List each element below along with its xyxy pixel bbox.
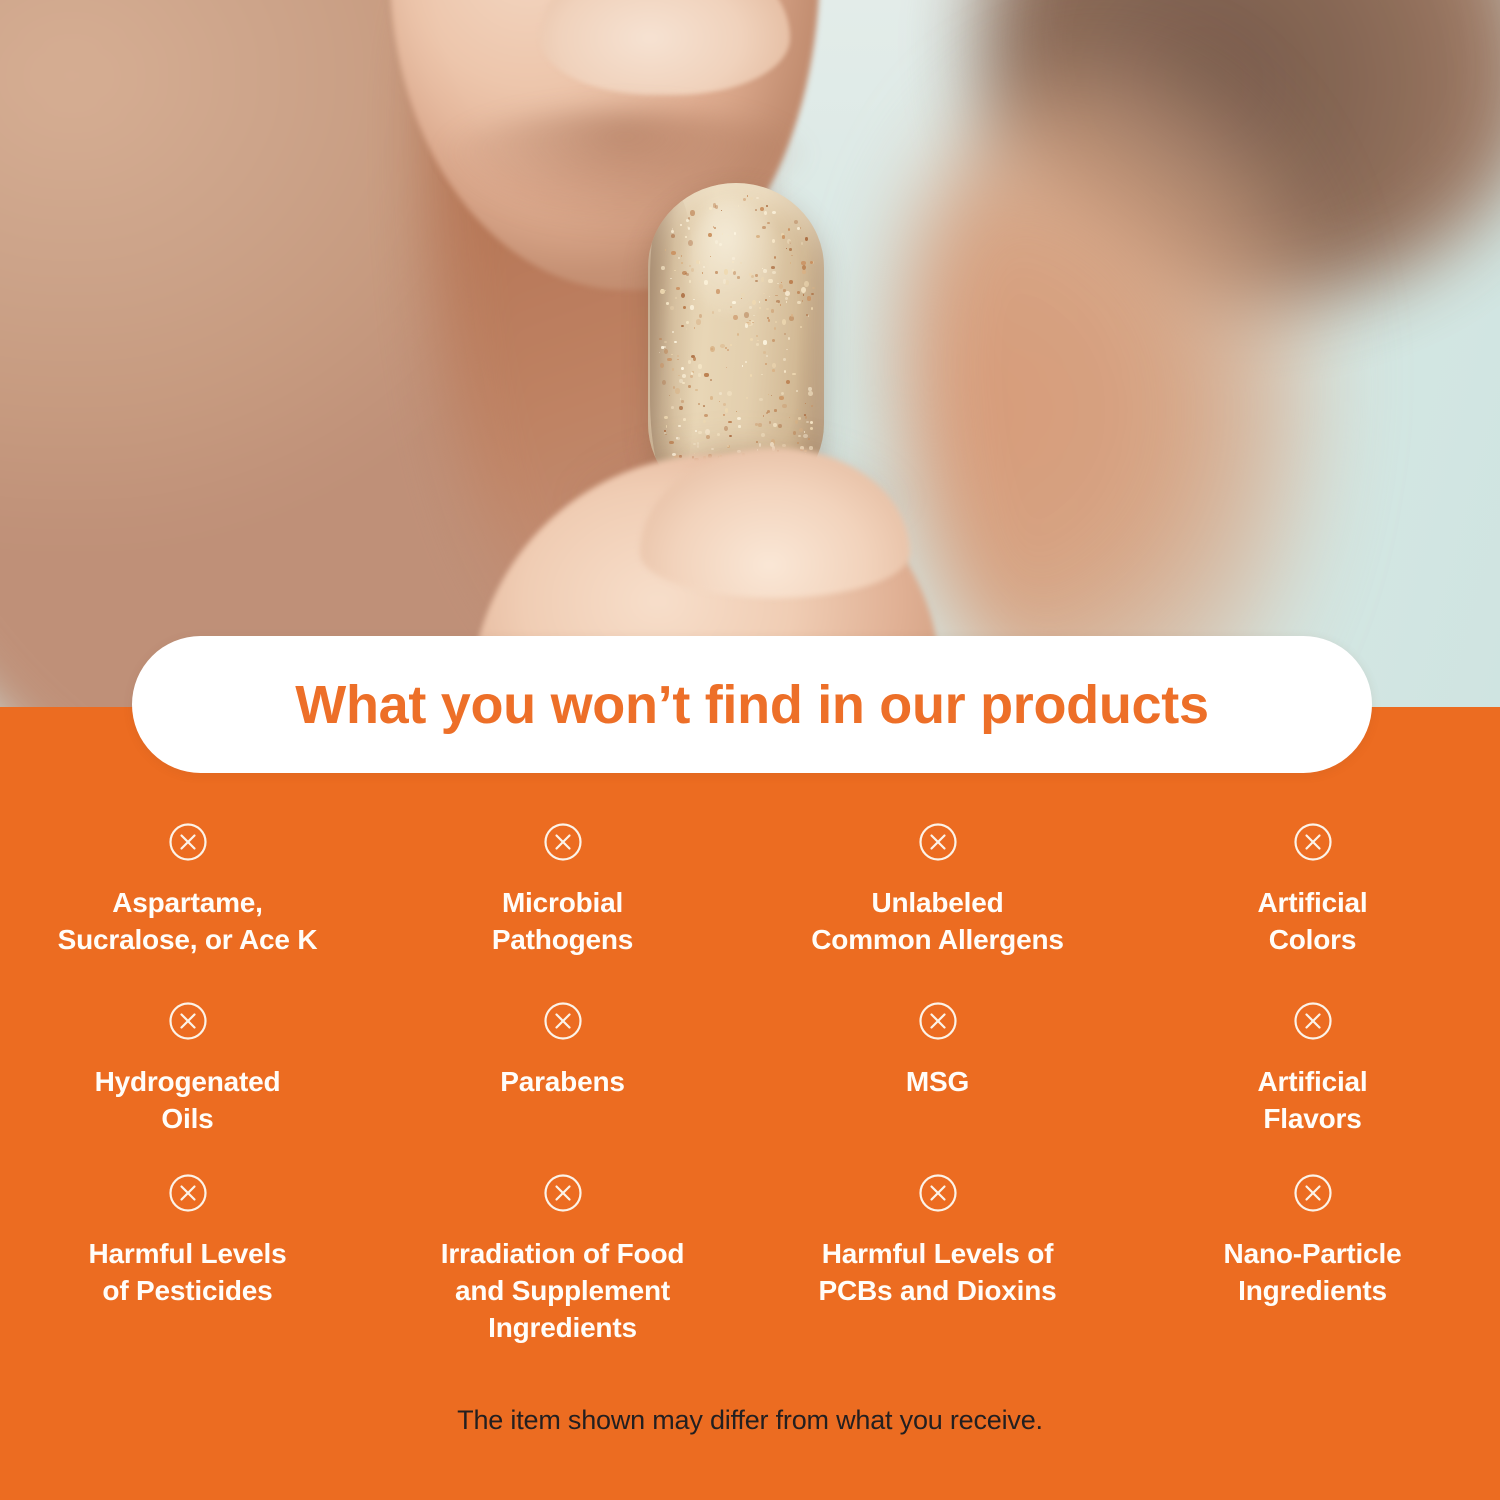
tablet-speckle xyxy=(804,281,809,287)
tablet-speckle xyxy=(767,410,770,413)
tablet-speckle xyxy=(688,240,692,246)
tablet-speckle xyxy=(810,427,813,430)
tablet-speckle xyxy=(732,261,734,263)
tablet-speckle xyxy=(790,262,792,264)
tablet-speckle xyxy=(807,296,812,300)
blurred-skin-right xyxy=(900,60,1320,710)
exclusions-grid: Aspartame, Sucralose, or Ace K Microbial… xyxy=(0,822,1500,1347)
tablet-speckle xyxy=(670,306,674,310)
tablet-speckle xyxy=(779,396,784,399)
tablet-speckle xyxy=(750,338,753,341)
tablet-speckle xyxy=(763,415,764,416)
exclusion-item: Harmful Levels of PCBs and Dioxins xyxy=(750,1173,1125,1347)
tablet-speckle xyxy=(688,227,690,229)
tablet-speckle xyxy=(786,349,787,350)
tablet-speckle xyxy=(704,414,708,417)
tablet-speckle xyxy=(761,374,763,375)
tablet-speckle xyxy=(805,237,808,241)
tablet-speckle xyxy=(710,346,715,352)
tablet-speckle xyxy=(797,291,800,294)
tablet-speckle xyxy=(759,307,761,309)
tablet-speckle xyxy=(798,417,801,419)
tablet-speckle xyxy=(784,333,786,336)
tablet-speckle xyxy=(681,262,683,264)
headline-emphasis: won’t xyxy=(551,675,690,735)
tablet-speckle xyxy=(737,276,740,278)
circle-x-icon xyxy=(543,822,583,862)
tablet-speckle xyxy=(740,262,742,264)
tablet-speckle xyxy=(663,346,666,348)
tablet-speckle xyxy=(681,293,685,298)
tablet-speckle xyxy=(698,373,701,376)
tablet-speckle xyxy=(686,219,688,222)
exclusion-item: Harmful Levels of Pesticides xyxy=(0,1173,375,1347)
exclusion-label: Artificial Flavors xyxy=(1257,1063,1367,1137)
exclusion-label: Unlabeled Common Allergens xyxy=(811,884,1063,958)
tablet-speckle xyxy=(789,280,793,284)
tablet-speckle xyxy=(719,392,722,395)
circle-x-icon xyxy=(543,1173,583,1213)
tablet-speckle xyxy=(727,349,729,351)
tablet-speckle xyxy=(766,205,768,207)
tablet-speckle xyxy=(703,405,705,407)
circle-x-icon xyxy=(1293,822,1333,862)
tablet-speckle xyxy=(664,349,668,354)
tablet-speckle xyxy=(737,333,739,336)
tablet-speckle xyxy=(704,280,708,284)
tablet-speckle xyxy=(722,233,723,234)
tablet-speckle xyxy=(736,411,737,412)
tablet-speckle xyxy=(775,321,777,323)
tablet-speckle xyxy=(719,243,722,246)
tablet-speckle xyxy=(703,420,706,423)
tablet-speckle xyxy=(772,211,776,214)
tablet-speckle xyxy=(715,271,718,275)
tablet-speckle xyxy=(776,302,777,304)
tablet-speckle xyxy=(763,351,767,354)
tablet-speckle xyxy=(771,266,775,269)
tablet-speckle xyxy=(693,299,694,300)
tablet-speckle xyxy=(720,344,725,348)
headline-part-1: What you xyxy=(295,675,550,735)
tablet-speckle xyxy=(768,279,772,284)
tablet-speckle xyxy=(682,382,685,385)
tablet-speckle xyxy=(708,233,712,238)
tablet-speckle xyxy=(797,409,799,411)
tablet-speckle xyxy=(766,308,769,310)
circle-x-icon xyxy=(168,1173,208,1213)
tablet-speckle xyxy=(784,370,786,373)
tablet-speckle xyxy=(741,298,742,299)
tablet-speckle xyxy=(745,361,747,363)
tablet-speckle xyxy=(769,421,771,424)
tablet-speckle xyxy=(693,357,696,361)
tablet-speckle xyxy=(781,392,784,395)
tablet-speckle xyxy=(794,220,798,224)
tablet-speckle xyxy=(695,389,697,392)
tablet-speckle xyxy=(800,326,802,328)
tablet-speckle xyxy=(763,293,764,294)
tablet-speckle xyxy=(811,293,814,295)
tablet-speckle xyxy=(801,242,804,245)
tablet-speckle xyxy=(696,319,701,324)
exclusion-item: MSG xyxy=(750,1001,1125,1173)
tablet-speckle xyxy=(771,309,774,313)
tablet-speckle xyxy=(661,289,662,290)
tablet-speckle xyxy=(803,294,804,296)
tablet-speckle xyxy=(694,327,696,329)
tablet-speckle xyxy=(750,197,753,201)
tablet-speckle xyxy=(782,404,786,408)
tablet-speckle xyxy=(690,305,694,309)
tablet-speckle xyxy=(772,271,776,274)
tablet-speckle xyxy=(742,365,743,367)
exclusion-item: Irradiation of Food and Supplement Ingre… xyxy=(375,1173,750,1347)
tablet-speckle xyxy=(680,224,682,225)
tablet-speckle xyxy=(683,418,686,421)
tablet-speckle xyxy=(771,395,772,397)
tablet-speckle xyxy=(661,266,664,270)
tablet-speckle xyxy=(808,391,812,396)
tablet-speckle xyxy=(718,309,721,312)
tablet-speckle xyxy=(738,425,740,428)
tablet-speckle xyxy=(746,397,748,399)
tablet-speckle xyxy=(796,390,798,392)
exclusion-item: Hydrogenated Oils xyxy=(0,1001,375,1173)
tablet-speckle xyxy=(675,297,677,299)
tablet-speckle xyxy=(734,232,737,234)
tablet-speckle xyxy=(805,403,806,404)
exclusion-label: Artificial Colors xyxy=(1257,884,1367,958)
tablet-speckle xyxy=(749,306,752,309)
tablet-speckle xyxy=(682,374,686,378)
circle-x-icon xyxy=(168,1001,208,1041)
tablet-speckle xyxy=(785,297,788,300)
product-photo xyxy=(0,0,1500,710)
exclusion-label: Parabens xyxy=(500,1063,624,1100)
tablet-speckle xyxy=(756,335,758,337)
tablet-speckle xyxy=(671,406,674,409)
tablet-speckle xyxy=(664,341,667,343)
circle-x-icon xyxy=(918,1173,958,1213)
tablet-speckle xyxy=(772,369,776,372)
tablet-speckle xyxy=(750,374,752,377)
tablet-speckle xyxy=(811,307,813,310)
tablet-speckle xyxy=(659,338,662,340)
tablet-speckle xyxy=(792,373,796,376)
exclusion-item: Microbial Pathogens xyxy=(375,822,750,1001)
tablet-speckle xyxy=(730,344,732,346)
tablet-speckle xyxy=(786,248,787,249)
tablet-speckle xyxy=(772,339,775,342)
tablet-speckle xyxy=(698,364,703,369)
tablet-speckle xyxy=(768,394,770,396)
exclusion-label: Irradiation of Food and Supplement Ingre… xyxy=(441,1235,685,1347)
headline-pill: What you won’t find in our products xyxy=(132,636,1372,773)
tablet-speckle xyxy=(795,420,798,424)
tablet-speckle xyxy=(797,301,801,304)
tablet-speckle xyxy=(759,398,763,401)
tablet-speckle xyxy=(737,417,741,420)
exclusion-label: Microbial Pathogens xyxy=(492,884,633,958)
tablet-speckle xyxy=(786,301,787,302)
tablet-speckle xyxy=(797,227,800,230)
exclusion-item: Unlabeled Common Allergens xyxy=(750,822,1125,1001)
tablet-speckle xyxy=(709,207,712,210)
tablet-speckle xyxy=(747,195,748,196)
tablet-speckle xyxy=(810,421,814,424)
exclusion-item: Parabens xyxy=(375,1001,750,1173)
tablet-speckle xyxy=(748,322,752,326)
tablet-speckle xyxy=(799,428,803,432)
tablet-speckle xyxy=(788,228,790,231)
circle-x-icon xyxy=(1293,1001,1333,1041)
tablet-speckle xyxy=(698,403,700,405)
exclusion-item: Artificial Flavors xyxy=(1125,1001,1500,1173)
tablet-speckle xyxy=(766,355,768,358)
tablet-speckle xyxy=(719,401,720,402)
exclusion-item: Artificial Colors xyxy=(1125,822,1500,1001)
tablet-speckle xyxy=(671,251,676,255)
tablet-speckle xyxy=(783,358,786,361)
tablet-speckle xyxy=(744,312,749,317)
tablet-speckle xyxy=(712,311,714,313)
tablet-speckle xyxy=(764,211,767,215)
tablet-speckle xyxy=(755,423,758,425)
tablet-speckle xyxy=(676,287,680,290)
exclusion-label: Nano-Particle Ingredients xyxy=(1224,1235,1402,1309)
tablet-speckle xyxy=(802,270,806,274)
product-infographic: What you won’t find in our products Aspa… xyxy=(0,0,1500,1500)
exclusion-label: Harmful Levels of Pesticides xyxy=(89,1235,287,1309)
tablet-speckle xyxy=(704,373,708,376)
tablet-speckle xyxy=(690,375,693,378)
tablet-speckle xyxy=(801,287,806,293)
headline-part-2: find in our products xyxy=(690,675,1209,735)
tablet-speckle xyxy=(763,269,767,272)
tablet-speckle xyxy=(806,314,808,316)
tablet-speckle xyxy=(808,387,812,391)
tablet-speckle xyxy=(782,319,786,325)
tablet-speckle xyxy=(786,380,790,384)
tablet-speckle xyxy=(681,367,684,370)
tablet-speckle xyxy=(757,340,759,341)
tablet-speckle xyxy=(732,269,734,272)
tablet-speckle xyxy=(688,385,691,389)
tablet-speckle xyxy=(755,280,757,282)
tablet-speckle xyxy=(679,406,683,410)
tablet-speckle xyxy=(758,423,761,427)
tablet-speckle xyxy=(671,230,674,233)
page-title: What you won’t find in our products xyxy=(295,678,1208,732)
tablet-speckle xyxy=(671,234,675,238)
tablet-speckle xyxy=(727,391,732,396)
tablet-speckle xyxy=(781,282,783,284)
tablet-speckle xyxy=(772,239,775,243)
tablet-speckle xyxy=(802,265,806,270)
tablet-speckle xyxy=(728,421,732,424)
tablet-speckle xyxy=(774,327,776,330)
tablet-speckle xyxy=(689,280,691,282)
tablet-speckle xyxy=(775,295,777,297)
tablet-speckle xyxy=(725,347,727,349)
tablet-speckle xyxy=(765,299,767,301)
tablet-speckle xyxy=(666,302,669,305)
tablet-speckle xyxy=(765,363,767,365)
tablet-speckle xyxy=(785,291,790,296)
tablet-speckle xyxy=(806,421,809,423)
tablet-speckle xyxy=(688,360,691,364)
tablet-speckle xyxy=(732,257,736,260)
exclusion-label: Harmful Levels of PCBs and Dioxins xyxy=(819,1235,1057,1309)
exclusion-label: Aspartame, Sucralose, or Ace K xyxy=(58,884,318,958)
tablet-speckle xyxy=(789,417,790,419)
tablet-speckle xyxy=(699,314,702,318)
tablet-speckle xyxy=(753,315,754,316)
tablet-speckle xyxy=(763,340,768,344)
tablet-speckle xyxy=(802,300,804,303)
tablet-speckle xyxy=(768,319,770,321)
tablet-speckle xyxy=(716,289,720,293)
tablet-speckle xyxy=(760,207,764,211)
tablet-speckle xyxy=(710,379,712,381)
tablet-speckle xyxy=(782,235,786,239)
tablet-speckle xyxy=(779,284,783,289)
tablet-speckle xyxy=(812,287,814,289)
tablet-speckle xyxy=(726,367,727,368)
tablet-speckle xyxy=(778,424,782,428)
tablet-speckle xyxy=(811,405,813,407)
tablet-speckle xyxy=(769,296,770,297)
tablet-speckle xyxy=(780,304,782,305)
tablet-speckle xyxy=(733,271,736,274)
tablet-speckle xyxy=(805,416,807,419)
tablet-speckle xyxy=(685,236,687,237)
tablet-speckle xyxy=(756,197,759,200)
circle-x-icon xyxy=(1293,1173,1333,1213)
exclusion-item: Nano-Particle Ingredients xyxy=(1125,1173,1500,1347)
tablet-speckle xyxy=(791,255,793,256)
exclusion-item: Aspartame, Sucralose, or Ace K xyxy=(0,822,375,1001)
tablet-speckle xyxy=(772,363,776,368)
tablet-speckle xyxy=(808,315,810,316)
tablet-speckle xyxy=(810,261,813,264)
tablet-speckle xyxy=(774,409,777,411)
circle-x-icon xyxy=(918,822,958,862)
exclusion-label: Hydrogenated Oils xyxy=(95,1063,281,1137)
tablet-speckle xyxy=(710,396,713,399)
exclusion-label: MSG xyxy=(906,1063,969,1100)
tablet-speckle xyxy=(675,388,679,394)
tablet-speckle xyxy=(733,315,738,321)
circle-x-icon xyxy=(168,822,208,862)
disclaimer-text: The item shown may differ from what you … xyxy=(0,1405,1500,1436)
tablet-speckle xyxy=(691,372,693,375)
tablet-speckle xyxy=(756,343,759,345)
tablet-speckle xyxy=(723,403,726,406)
tablet-speckle xyxy=(788,337,791,340)
circle-x-icon xyxy=(918,1001,958,1041)
tablet-speckle xyxy=(773,423,777,428)
circle-x-icon xyxy=(543,1001,583,1041)
tablet-speckle xyxy=(723,414,725,416)
tablet-speckle xyxy=(690,210,694,215)
tablet-speckle xyxy=(789,248,792,252)
tablet-speckle xyxy=(725,408,728,412)
